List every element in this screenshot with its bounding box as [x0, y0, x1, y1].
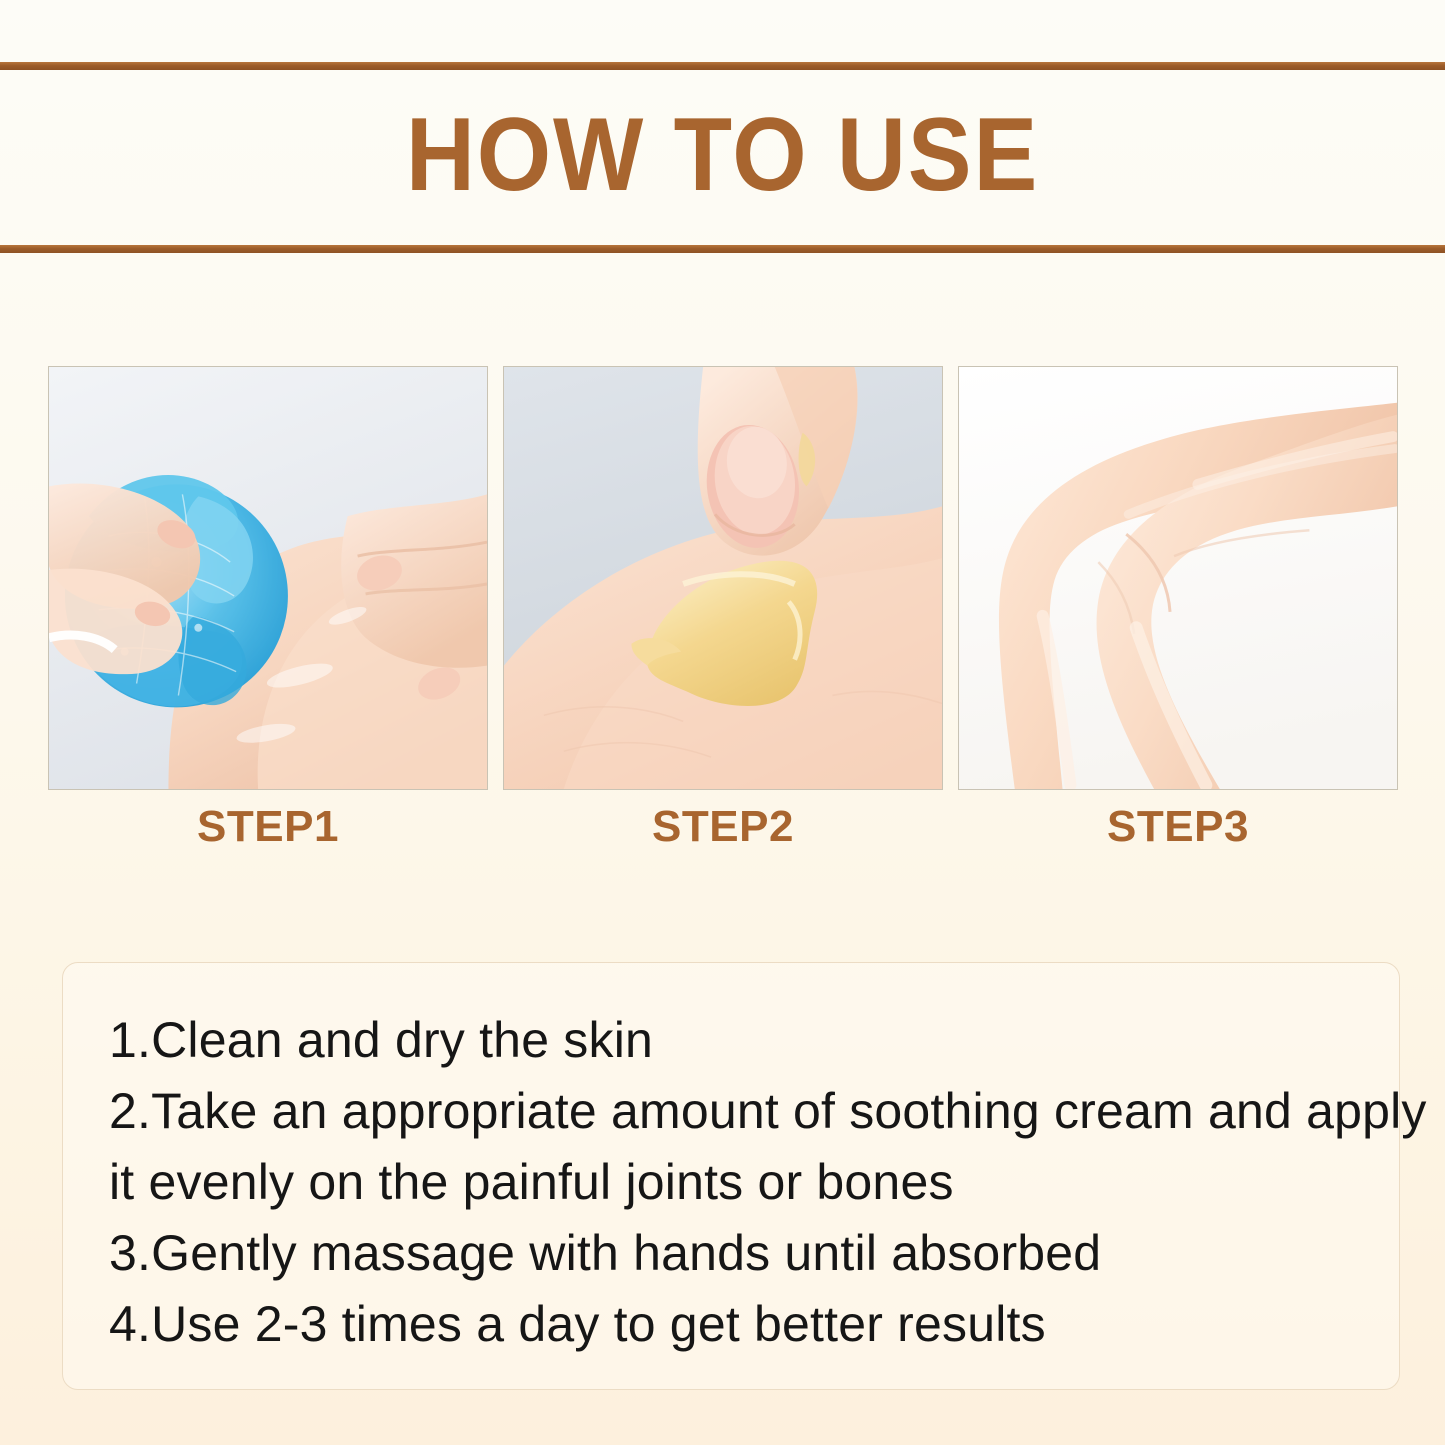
header-rule-bottom [0, 245, 1445, 253]
step-label-2: STEP2 [503, 800, 943, 860]
step-1-image [48, 366, 488, 790]
page-title: HOW TO USE [58, 96, 1387, 214]
loofah-sponge-icon [49, 367, 487, 789]
step-label-1: STEP1 [48, 800, 488, 860]
instruction-line: 2.Take an appropriate amount of soothing… [109, 1076, 1353, 1147]
step-2-image [503, 366, 943, 790]
cream-application-icon [504, 367, 942, 789]
step-labels-row: STEP1 STEP2 STEP3 [48, 800, 1398, 860]
legs-icon [959, 367, 1397, 789]
instruction-line: 1.Clean and dry the skin [109, 1005, 1353, 1076]
step-3-image [958, 366, 1398, 790]
infographic-page: HOW TO USE [0, 0, 1445, 1445]
instructions-box: 1.Clean and dry the skin 2.Take an appro… [62, 962, 1400, 1390]
step-images-row [48, 366, 1398, 790]
instruction-line: it evenly on the painful joints or bones [109, 1147, 1353, 1218]
step-label-3: STEP3 [958, 800, 1398, 860]
instruction-line: 3.Gently massage with hands until absorb… [109, 1218, 1353, 1289]
instruction-line: 4.Use 2-3 times a day to get better resu… [109, 1289, 1353, 1360]
header-rule-top [0, 62, 1445, 70]
